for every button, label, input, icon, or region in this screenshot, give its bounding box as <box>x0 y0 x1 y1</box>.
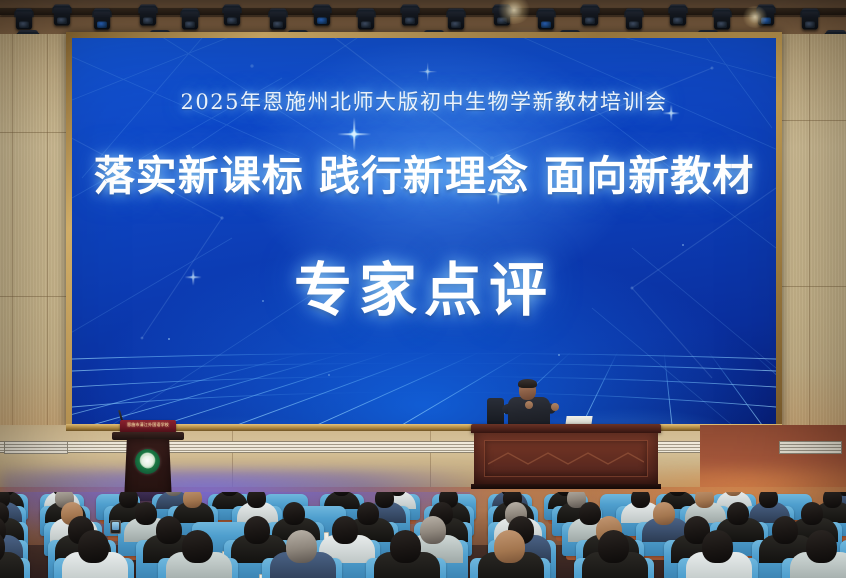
audience-member-head <box>772 516 798 544</box>
audience-member-head <box>653 502 675 525</box>
presenter-hand <box>551 403 559 411</box>
audience-member-head <box>183 492 202 508</box>
stage-light-fixture <box>538 8 554 29</box>
screen-subtitle: 2025年恩施州北师大版初中生物学新教材培训会 <box>72 86 776 116</box>
school-crest-icon <box>135 449 160 474</box>
left-wall-panel <box>0 34 74 486</box>
screen-headline: 落实新课标 践行新理念 面向新教材 <box>72 142 776 202</box>
stage-light-fixture <box>358 8 374 29</box>
screen-main-title: 专家点评 <box>72 243 776 327</box>
presenter-hair <box>518 379 537 388</box>
stage-light-fixture <box>758 4 774 25</box>
stage-light-fixture <box>140 4 156 25</box>
presenter-hand <box>525 401 533 409</box>
stage-light-fixture <box>582 4 598 25</box>
right-wall-vent <box>779 441 842 454</box>
audience-member-head <box>375 492 394 508</box>
audience-member-head <box>823 492 842 508</box>
stage-light-fixture <box>270 8 286 29</box>
audience-member-head <box>494 530 525 563</box>
audience-phone <box>110 520 121 534</box>
audience-member-head <box>631 492 650 508</box>
audience-member-head <box>727 502 749 525</box>
audience-member-head <box>78 530 109 563</box>
stage-light-fixture <box>802 8 818 29</box>
audience-member-head <box>801 502 823 525</box>
stage-light-fixture <box>182 8 198 29</box>
table-top-surface <box>471 424 661 433</box>
audience-member-head <box>759 492 778 508</box>
audience-member-head <box>702 530 733 563</box>
table-base <box>471 484 661 489</box>
table-chevron-pattern <box>488 451 644 467</box>
stage-light-fixture <box>626 8 642 29</box>
stage-light-fixture <box>16 8 32 29</box>
stage-light-fixture <box>224 4 240 25</box>
screen-dust <box>168 338 170 340</box>
audience-member-head <box>390 530 421 563</box>
podium-shelf <box>112 432 184 440</box>
stage-light-fixture <box>714 8 730 29</box>
right-wall-panel <box>775 34 846 486</box>
audience-member-head <box>357 502 379 525</box>
audience-member-head <box>286 530 317 563</box>
audience-member-head <box>156 516 182 544</box>
left-wall-vent <box>4 441 68 454</box>
stage-light-fixture <box>448 8 464 29</box>
led-display-screen: 2025年恩施州北师大版初中生物学新教材培训会 落实新课标 践行新理念 面向新教… <box>72 38 776 425</box>
stage-light-fixture <box>402 4 418 25</box>
screen-dust <box>328 374 330 376</box>
audience-member-head <box>119 492 138 508</box>
stage-light-fixture <box>54 4 70 25</box>
audience-member-head <box>695 492 714 508</box>
podium-banner-text: 恩施市清江外国语学校 <box>120 422 176 428</box>
stage-light-fixture <box>670 4 686 25</box>
audience-member-head <box>182 530 213 563</box>
audience-member-head <box>283 502 305 525</box>
seated-presenter <box>497 380 567 428</box>
stage-light-fixture <box>314 4 330 25</box>
audience-member-head <box>332 516 358 544</box>
auditorium-scene: 2025年恩施州北师大版初中生物学新教材培训会 落实新课标 践行新理念 面向新教… <box>0 0 846 578</box>
stage-light-fixture <box>94 8 110 29</box>
table-front-panel <box>474 433 658 485</box>
presenter-table <box>471 424 661 488</box>
screen-dust <box>558 354 560 356</box>
audience-member-head <box>806 530 837 563</box>
stage-light-fixture <box>494 4 510 25</box>
audience-member-head <box>244 516 270 544</box>
audience-member-head <box>247 492 266 508</box>
audience-member-head <box>135 502 157 525</box>
audience-member-head <box>420 516 446 544</box>
audience-member-head <box>598 530 629 563</box>
audience-area <box>0 492 846 578</box>
